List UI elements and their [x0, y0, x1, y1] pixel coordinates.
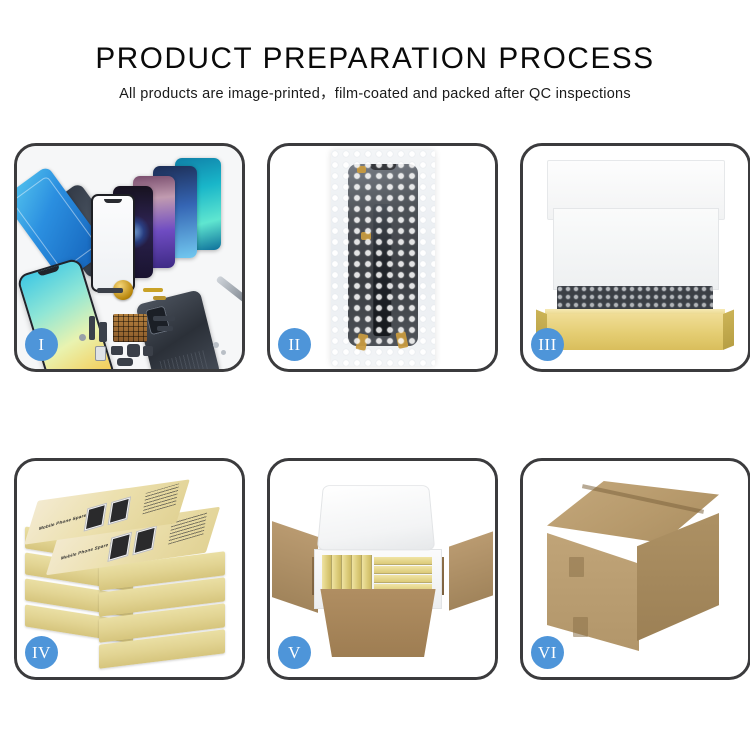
step-5-image: V [270, 461, 495, 677]
flex-cable-icon [157, 326, 173, 331]
page-title: PRODUCT PREPARATION PROCESS [4, 0, 747, 74]
step-4-image: Mobile Phone Spare Parts Mobile Phone Sp… [17, 461, 242, 677]
flex-cable-icon [89, 316, 95, 340]
screw-icon [221, 350, 226, 355]
product-preparation-infographic: PRODUCT PREPARATION PROCESS All products… [0, 0, 750, 750]
step-panel-4: Mobile Phone Spare Parts Mobile Phone Sp… [14, 458, 245, 680]
gold-tab-icon [357, 166, 366, 173]
carton-left-face-icon [547, 533, 639, 651]
speaker-icon [117, 358, 133, 366]
carton-tape-icon [569, 557, 584, 577]
phone-fan-group [89, 156, 239, 286]
process-step-grid: I II II [14, 143, 750, 680]
yellow-box-icon [374, 557, 432, 565]
step-badge-6: VI [531, 636, 564, 669]
phone-housing-icon [135, 289, 220, 369]
step-panel-6: VI [520, 458, 750, 680]
yellow-box-front-icon [545, 314, 725, 350]
step-badge-3: III [531, 328, 564, 361]
screen-glass-icon [91, 194, 135, 292]
camera-module-icon [127, 344, 140, 357]
step-panel-1: I [14, 143, 245, 372]
step-2-image: II [270, 146, 495, 369]
header: PRODUCT PREPARATION PROCESS All products… [0, 0, 750, 102]
chip-board-icon [113, 314, 147, 342]
screw-icon [79, 334, 86, 341]
step-6-image: VI [523, 461, 748, 677]
carton-front-icon [314, 589, 442, 657]
step-3-image: III [523, 146, 748, 369]
sim-tray-icon [95, 346, 106, 361]
carton-tape-icon [573, 617, 588, 637]
small-part-icon [97, 288, 123, 293]
flex-cable-icon [153, 316, 175, 321]
styrofoam-lid-icon [317, 485, 435, 550]
screw-icon [213, 342, 219, 348]
lcd-flex-tail-icon [373, 204, 391, 336]
flex-cable-icon [153, 296, 166, 300]
flex-cable-icon [99, 322, 107, 342]
flex-cable-icon [143, 288, 163, 292]
page-subtitle: All products are image-printed，film-coat… [0, 74, 750, 102]
step-1-image: I [17, 146, 242, 369]
small-part-icon [143, 346, 153, 356]
small-part-icon [111, 346, 123, 355]
gold-tab-icon [361, 232, 371, 240]
step-badge-5: V [278, 636, 311, 669]
step-panel-5: V [267, 458, 498, 680]
yellow-box-icon [374, 575, 432, 583]
box-art-screen-icon [107, 532, 132, 562]
step-panel-3: III [520, 143, 750, 372]
box-art-screen-icon [108, 496, 132, 525]
carton-flap-right-icon [449, 531, 493, 610]
step-badge-4: IV [25, 636, 58, 669]
box-stack-icon: Mobile Phone Spare Parts Mobile Phone Sp… [23, 479, 237, 669]
box-art-screen-icon [84, 503, 108, 532]
yellow-box-icon [374, 566, 432, 574]
step-panel-2: II [267, 143, 498, 372]
foam-sheet-icon [553, 208, 719, 290]
step-badge-2: II [278, 328, 311, 361]
box-art-screen-icon [132, 525, 157, 555]
box-spec-lines-icon [142, 483, 179, 514]
step-badge-1: I [25, 328, 58, 361]
